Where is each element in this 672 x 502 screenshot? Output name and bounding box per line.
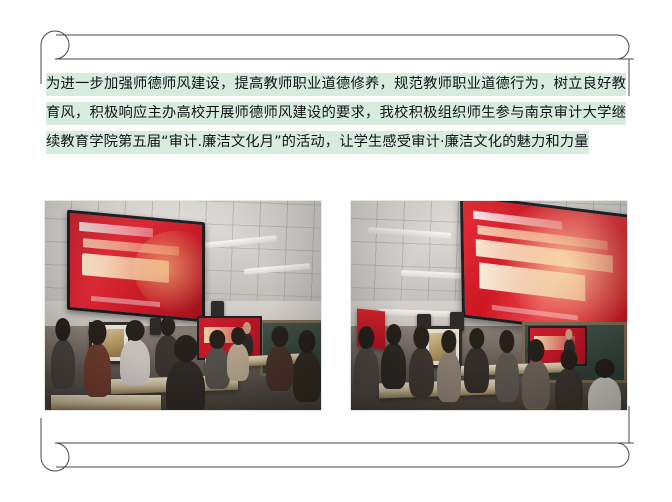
photo-gallery bbox=[44, 200, 628, 411]
student-figure bbox=[495, 351, 520, 401]
highlighted-text: 为进一步加强师德师风建设，提高教师职业道德修养，规范教师职业道德行为，树立良好教… bbox=[46, 73, 626, 154]
bottom-right-cap-icon bbox=[56, 443, 629, 467]
bottom-left-curl-icon bbox=[41, 418, 634, 471]
screen-footer-bar bbox=[492, 305, 578, 320]
photo-classroom-right[interactable] bbox=[350, 200, 628, 411]
screen-logo-bar bbox=[79, 222, 153, 237]
student-figure bbox=[227, 343, 249, 381]
screen-title-bar bbox=[82, 252, 169, 283]
photo-classroom-left[interactable] bbox=[44, 200, 322, 411]
screen-title-bar bbox=[479, 263, 586, 302]
led-screen-main bbox=[67, 209, 205, 322]
article-paragraph: 为进一步加强师德师风建设，提高教师职业道德修养，规范教师职业道德行为，树立良好教… bbox=[0, 70, 672, 157]
student-figure bbox=[166, 360, 205, 411]
article-body: 为进一步加强师德师风建设，提高教师职业道德修养，规范教师职业道德行为，树立良好教… bbox=[0, 70, 672, 157]
student-figure bbox=[409, 347, 434, 397]
student-figure bbox=[464, 347, 489, 393]
student-figure bbox=[293, 351, 321, 401]
student-figure bbox=[437, 351, 462, 401]
desk-row bbox=[51, 395, 161, 410]
student-figure bbox=[522, 360, 550, 410]
student-figure bbox=[555, 368, 583, 411]
student-figure bbox=[120, 339, 150, 385]
student-figure bbox=[354, 347, 379, 397]
frame-bottom-bracket bbox=[41, 406, 634, 471]
student-figure bbox=[381, 343, 406, 389]
top-right-cap-icon bbox=[56, 35, 629, 59]
student-figure bbox=[51, 339, 76, 389]
screen-footer-bar bbox=[91, 295, 160, 306]
student-figure bbox=[266, 345, 294, 391]
led-screen-main bbox=[460, 200, 628, 339]
student-figure bbox=[84, 343, 112, 397]
screen-subtitle-bar bbox=[83, 238, 178, 255]
